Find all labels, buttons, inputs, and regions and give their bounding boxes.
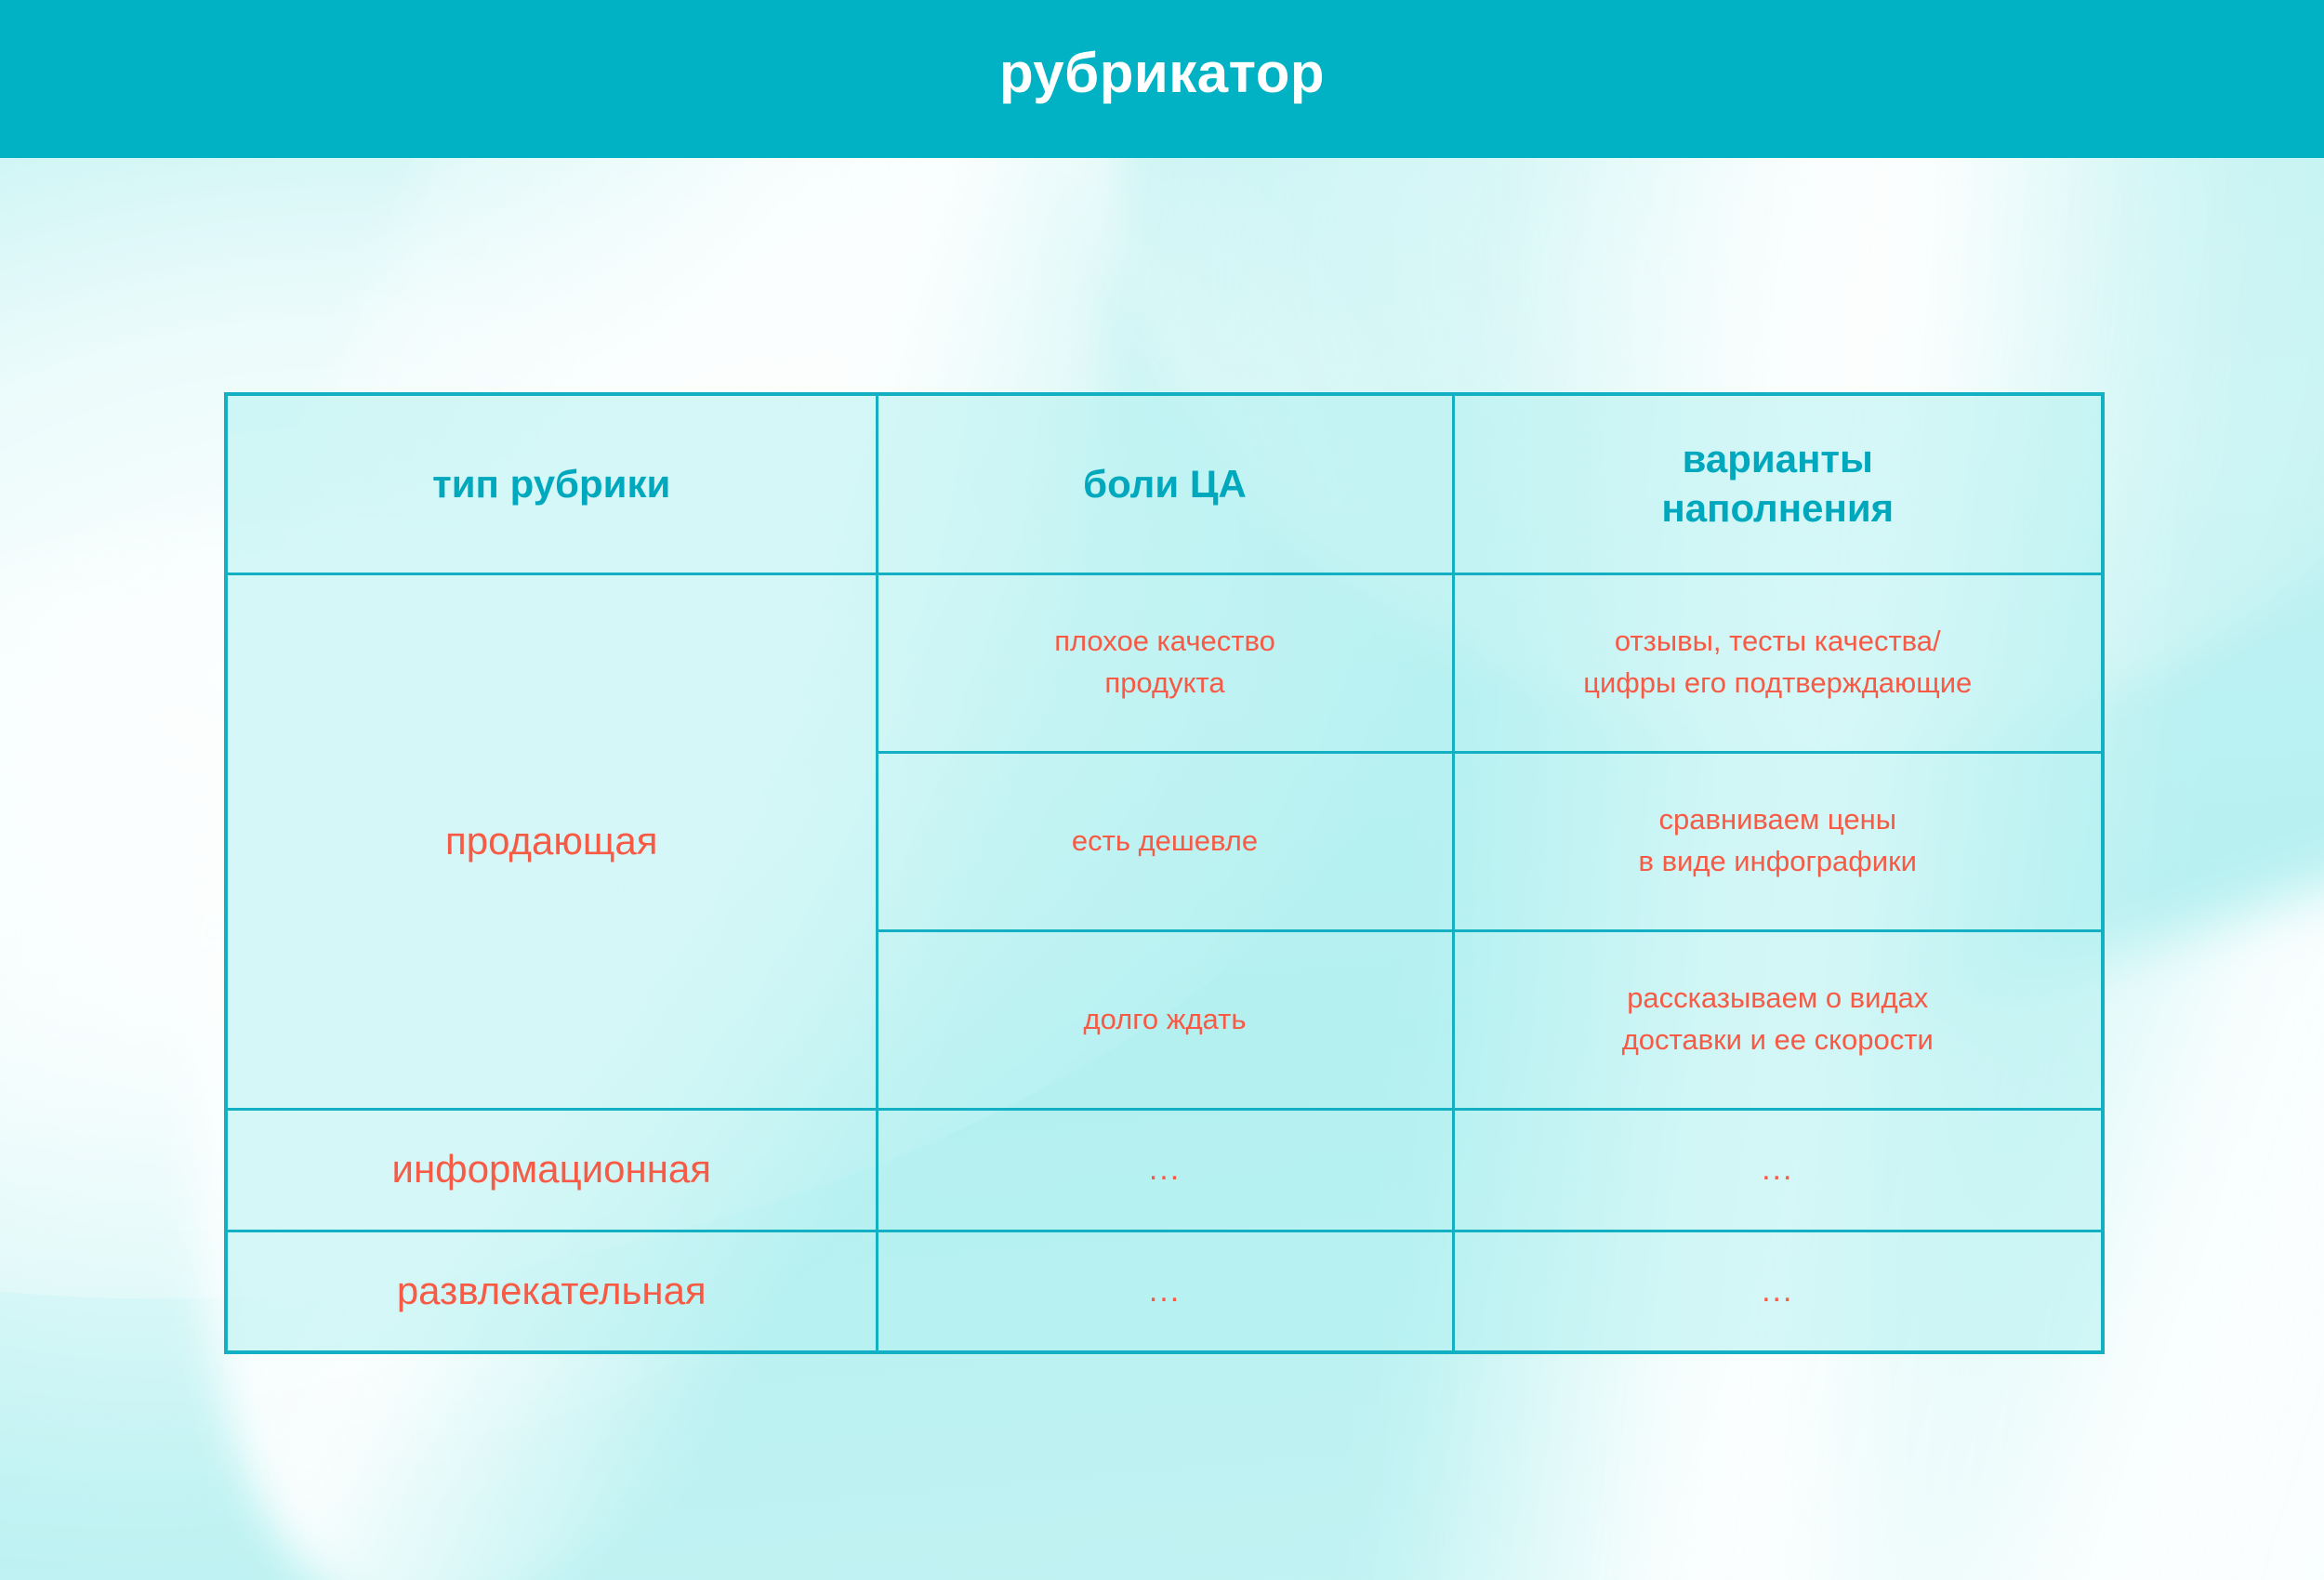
column-header-type: тип рубрики (226, 394, 877, 573)
column-header-content: варианты наполнения (1453, 394, 2103, 573)
cell-pain-quality: плохое качество продукта (877, 573, 1453, 752)
table-header-row: тип рубрики боли ЦА варианты наполнения (226, 394, 2103, 573)
cell-content-informational: ... (1453, 1109, 2103, 1231)
cell-pain-waiting: долго ждать (877, 930, 1453, 1109)
cell-rubric-type-entertaining: развлекательная (226, 1231, 877, 1352)
cell-rubric-type-selling: продающая (226, 573, 877, 1109)
header-bar: рубрикатор (0, 0, 2324, 158)
page-title: рубрикатор (0, 0, 2324, 158)
cell-pain-informational: ... (877, 1109, 1453, 1231)
table-row: информационная ... ... (226, 1109, 2103, 1231)
cell-pain-cheaper: есть дешевле (877, 752, 1453, 930)
column-header-pains: боли ЦА (877, 394, 1453, 573)
cell-pain-entertaining: ... (877, 1231, 1453, 1352)
rubricator-table: тип рубрики боли ЦА варианты наполнения … (224, 392, 2105, 1354)
slide-canvas: рубрикатор тип рубрики боли ЦА варианты … (0, 0, 2324, 1580)
cell-content-cheaper: сравниваем цены в виде инфографики (1453, 752, 2103, 930)
table-row: развлекательная ... ... (226, 1231, 2103, 1352)
cell-content-entertaining: ... (1453, 1231, 2103, 1352)
cell-rubric-type-informational: информационная (226, 1109, 877, 1231)
table-row: продающая плохое качество продукта отзыв… (226, 573, 2103, 752)
cell-content-waiting: рассказываем о видах доставки и ее скоро… (1453, 930, 2103, 1109)
cell-content-quality: отзывы, тесты качества/ цифры его подтве… (1453, 573, 2103, 752)
